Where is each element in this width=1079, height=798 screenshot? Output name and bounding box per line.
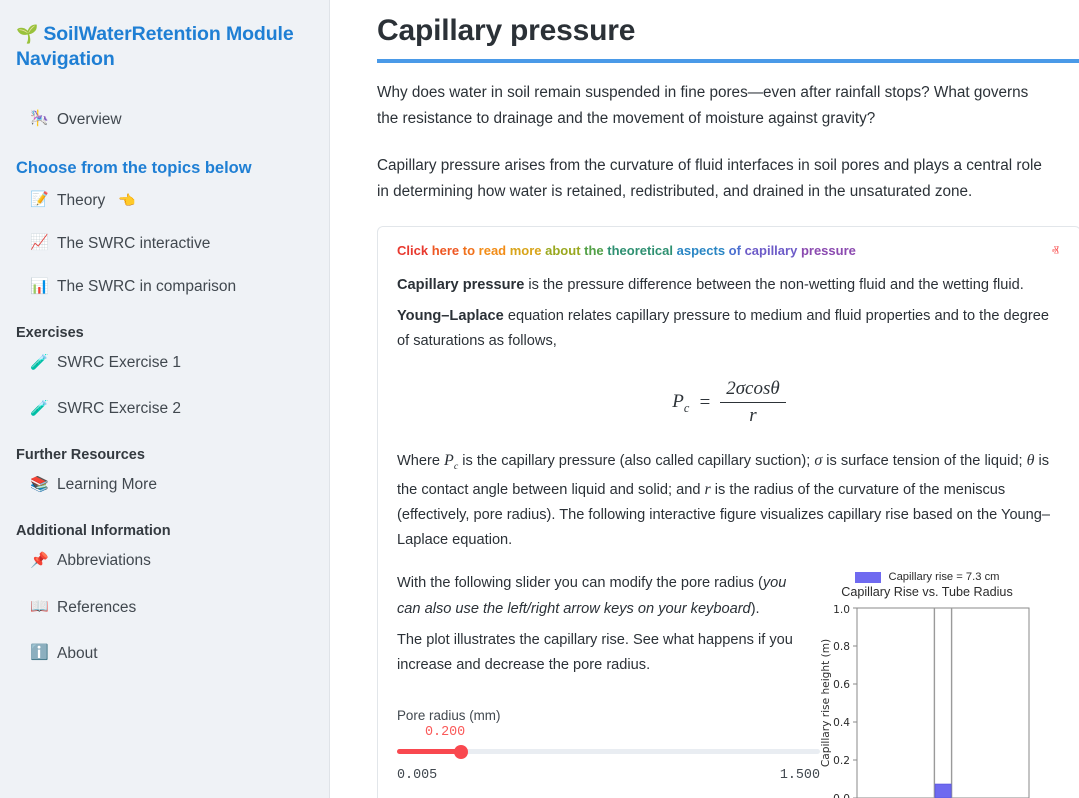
- legend-swatch-icon: [855, 572, 881, 583]
- equation-fraction: 2σcosθ r: [720, 378, 786, 427]
- bar-chart-icon: 📊: [30, 279, 48, 296]
- panel-header-word: read: [479, 243, 510, 258]
- panel-header-word: pressure: [801, 243, 856, 258]
- sidebar-heading-further-resources: Further Resources: [16, 447, 313, 463]
- panel-header-word: to: [463, 243, 479, 258]
- sidebar-item-label: The SWRC interactive: [57, 235, 210, 252]
- equation-equals: =: [698, 392, 711, 414]
- panel-header-word: capillary: [745, 243, 801, 258]
- y-axis-label: Capillary rise height (m): [820, 639, 832, 767]
- pore-radius-slider[interactable]: [397, 743, 820, 759]
- memo-icon: 📝: [30, 192, 48, 209]
- equation-numerator: 2σcosθ: [720, 378, 786, 402]
- slider-intro-text-a: With the following slider you can modify…: [397, 575, 763, 591]
- slider-min-label: 0.005: [397, 768, 437, 783]
- information-icon: ℹ️: [30, 645, 48, 662]
- panel-header-word: here: [432, 243, 463, 258]
- seedling-icon: 🌱: [16, 24, 38, 44]
- sidebar-item-swrc-exercise-2[interactable]: 🧪 SWRC Exercise 2: [16, 396, 313, 421]
- theory-expandable-panel: Click here to read more about the theore…: [377, 226, 1079, 798]
- panel-header-word: Click: [397, 243, 432, 258]
- sidebar-title-text: SoilWaterRetention Module Navigation: [16, 23, 294, 70]
- equation-denominator: r: [720, 402, 786, 427]
- y-tick-label: 0.6: [833, 679, 850, 691]
- intro-paragraph-2: Capillary pressure arises from the curva…: [377, 153, 1049, 206]
- panel-header-word: aspects: [677, 243, 729, 258]
- y-tick-label: 0.4: [833, 717, 850, 729]
- plot-frame: [857, 608, 1029, 798]
- where-text-2: is the capillary pressure (also called c…: [458, 453, 814, 469]
- theory-paragraph-2-bold: Young–Laplace: [397, 308, 504, 324]
- sidebar-item-swrc-comparison[interactable]: 📊 The SWRC in comparison: [16, 274, 313, 299]
- sidebar-title: 🌱SoilWaterRetention Module Navigation: [16, 22, 313, 71]
- theory-paragraph-1: Capillary pressure is the pressure diffe…: [397, 273, 1061, 298]
- open-book-icon: 📖: [30, 599, 48, 616]
- sidebar-item-references[interactable]: 📖 References: [16, 595, 313, 620]
- y-tick-label: 0.2: [833, 755, 850, 767]
- sidebar-item-label: The SWRC in comparison: [57, 278, 236, 295]
- slider-intro-paragraph: With the following slider you can modify…: [397, 571, 801, 621]
- sidebar-item-swrc-interactive[interactable]: 📈 The SWRC interactive: [16, 231, 313, 256]
- theory-panel-header[interactable]: Click here to read more about the theore…: [397, 243, 1061, 259]
- y-tick-label: 1.0: [833, 604, 850, 616]
- plot-intro-paragraph: The plot illustrates the capillary rise.…: [397, 628, 801, 678]
- sidebar-item-label: Overview: [57, 111, 122, 128]
- sidebar-item-theory[interactable]: 📝 Theory 👈: [16, 188, 313, 213]
- chevron-up-icon[interactable]: ⱏ: [1050, 244, 1061, 259]
- app-root: 🌱SoilWaterRetention Module Navigation 🎠 …: [0, 0, 1079, 798]
- sidebar-item-label: Abbreviations: [57, 552, 151, 569]
- slider-range-labels: 0.005 1.500: [397, 768, 820, 783]
- where-text-1: Where: [397, 453, 444, 469]
- main-content: Capillary pressure Why does water in soi…: [330, 0, 1079, 798]
- sidebar-item-overview[interactable]: 🎠 Overview: [16, 107, 313, 132]
- variable-definitions-paragraph: Where Pc is the capillary pressure (also…: [397, 447, 1061, 553]
- sidebar-item-label: About: [57, 645, 98, 662]
- sidebar-item-about[interactable]: ℹ️ About: [16, 641, 313, 666]
- sidebar-heading-exercises: Exercises: [16, 325, 313, 341]
- sidebar-item-label: Learning More: [57, 476, 157, 493]
- sidebar-heading-topics: Choose from the topics below: [16, 159, 313, 178]
- y-axis-ticks: 0.0 0.2 0.4 0.6 0.8 1.0: [833, 604, 857, 798]
- theory-panel-header-text: Click here to read more about the theore…: [397, 243, 856, 259]
- sidebar-item-label: SWRC Exercise 1: [57, 354, 181, 371]
- panel-header-word: the: [584, 243, 607, 258]
- panel-header-word: of: [729, 243, 745, 258]
- where-text-3: is surface tension of the liquid;: [822, 453, 1026, 469]
- sidebar: 🌱SoilWaterRetention Module Navigation 🎠 …: [0, 0, 330, 798]
- slider-column: With the following slider you can modify…: [397, 571, 817, 798]
- plot-svg: 0.0 0.2 0.4 0.6 0.8 1.0: [817, 600, 1037, 798]
- legend-entry-label: Capillary rise = 7.3 cm: [889, 571, 1000, 583]
- pushpin-icon: 📌: [30, 553, 48, 570]
- intro-paragraph-1: Why does water in soil remain suspended …: [377, 80, 1049, 133]
- pointing-hand-icon: 👈: [118, 193, 135, 208]
- panel-header-word: more: [510, 243, 545, 258]
- chart-increasing-icon: 📈: [30, 235, 48, 252]
- slider-max-label: 1.500: [780, 768, 820, 783]
- slider-intro-text-b: ).: [751, 601, 760, 617]
- panel-header-word: theoretical: [607, 243, 676, 258]
- page-title: Capillary pressure: [377, 14, 1079, 48]
- plot-title: Capillary Rise vs. Tube Radius: [817, 585, 1037, 599]
- young-laplace-equation: Pc = 2σcosθ r: [397, 378, 1061, 427]
- symbol-theta: θ: [1027, 452, 1035, 469]
- y-tick-label: 0.8: [833, 641, 850, 653]
- slider-label: Pore radius (mm): [397, 708, 801, 723]
- pore-radius-slider-block: Pore radius (mm) 0.200 0.005 1.500: [397, 708, 801, 783]
- books-icon: 📚: [30, 477, 48, 494]
- theory-paragraph-1-rest: is the pressure difference between the n…: [524, 277, 1023, 293]
- sidebar-item-label: References: [57, 599, 136, 616]
- sidebar-item-swrc-exercise-1[interactable]: 🧪 SWRC Exercise 1: [16, 350, 313, 375]
- title-divider: [377, 59, 1079, 63]
- interactive-section: With the following slider you can modify…: [397, 571, 1061, 798]
- sidebar-item-learning-more[interactable]: 📚 Learning More: [16, 472, 313, 497]
- test-tube-icon: 🧪: [30, 355, 48, 372]
- y-tick-label: 0.0: [833, 793, 850, 798]
- plot-column: Capillary rise = 7.3 cm Capillary Rise v…: [817, 571, 1061, 798]
- plot-canvas: 0.0 0.2 0.4 0.6 0.8 1.0: [817, 600, 1037, 798]
- panel-header-word: about: [545, 243, 584, 258]
- sidebar-item-label: Theory: [57, 192, 105, 209]
- sidebar-item-abbreviations[interactable]: 📌 Abbreviations: [16, 548, 313, 573]
- theory-paragraph-1-bold: Capillary pressure: [397, 277, 524, 293]
- capillary-rise-bar: [935, 785, 951, 798]
- equation-lhs: Pc: [672, 391, 689, 416]
- slider-value: 0.200: [425, 725, 801, 740]
- symbol-pc: Pc: [444, 452, 458, 469]
- slider-track-fill: [397, 749, 461, 754]
- slider-thumb[interactable]: [454, 745, 468, 759]
- overview-icon: 🎠: [30, 111, 48, 128]
- test-tube-icon: 🧪: [30, 401, 48, 418]
- plot-legend: Capillary rise = 7.3 cm: [817, 571, 1037, 583]
- sidebar-item-label: SWRC Exercise 2: [57, 400, 181, 417]
- capillary-rise-plot: Capillary rise = 7.3 cm Capillary Rise v…: [817, 571, 1037, 798]
- theory-paragraph-2: Young–Laplace equation relates capillary…: [397, 304, 1061, 354]
- sidebar-heading-additional-information: Additional Information: [16, 523, 313, 539]
